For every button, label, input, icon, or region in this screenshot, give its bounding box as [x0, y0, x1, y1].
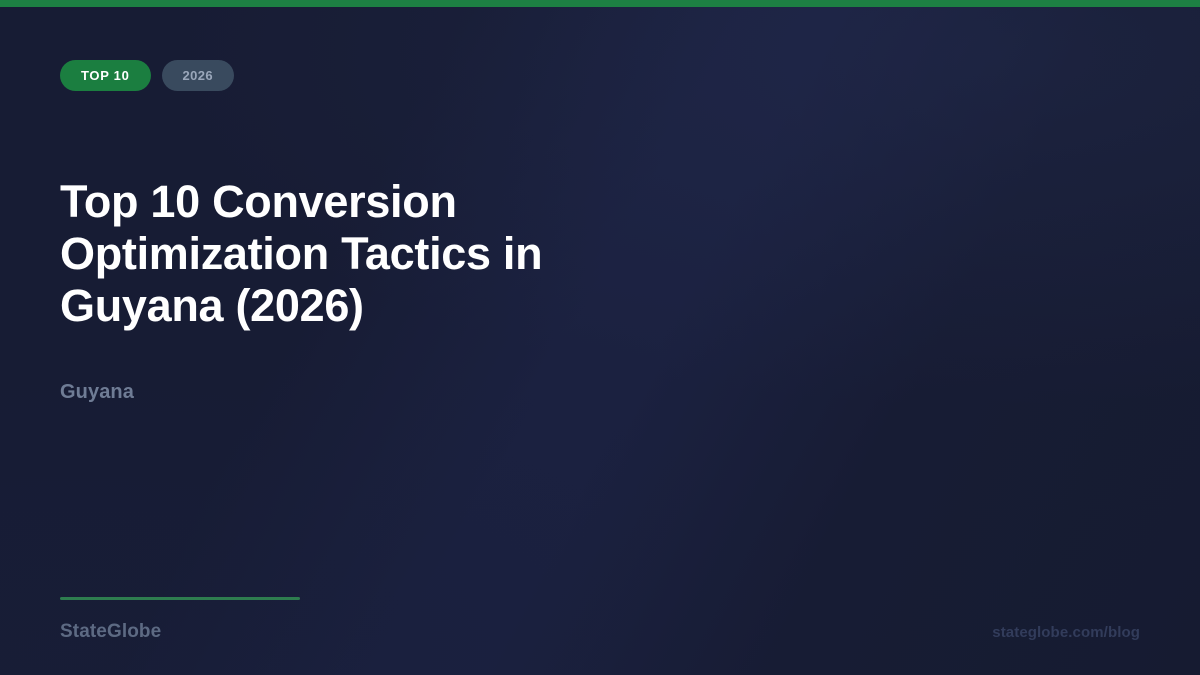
- badge-group: TOP 10 2026: [60, 60, 234, 91]
- subtitle-location: Guyana: [60, 381, 134, 404]
- badge-year[interactable]: 2026: [162, 60, 235, 91]
- top-accent-bar: [0, 0, 1200, 7]
- footer-divider: [60, 597, 300, 600]
- social-card-poster: TOP 10 2026 Top 10 Conversion Optimizati…: [0, 0, 1200, 675]
- page-title: Top 10 Conversion Optimization Tactics i…: [60, 176, 680, 332]
- footer-brand-name: StateGlobe: [60, 621, 161, 643]
- poster-content: TOP 10 2026 Top 10 Conversion Optimizati…: [0, 0, 1200, 675]
- footer-site-url: stateglobe.com/blog: [992, 624, 1140, 641]
- badge-top-10[interactable]: TOP 10: [60, 60, 151, 91]
